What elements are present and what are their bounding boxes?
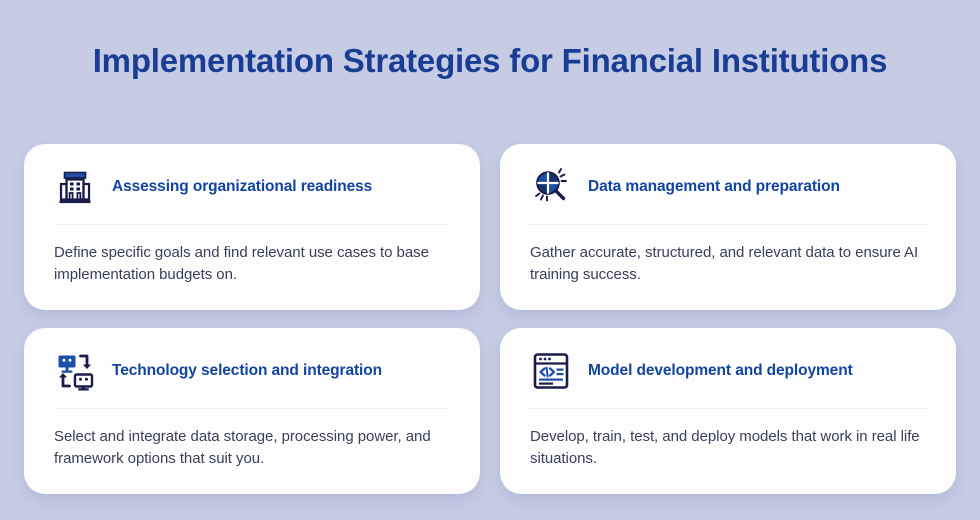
card-body-text: Gather accurate, structured, and relevan… — [530, 242, 926, 286]
code-window-icon — [530, 350, 572, 392]
card-header: Data management and preparation — [530, 166, 926, 225]
magnifier-data-icon — [530, 166, 572, 208]
bank-building-icon — [54, 166, 96, 208]
monitor-exchange-icon — [54, 350, 96, 392]
strategy-card: Assessing organizational readiness Defin… — [24, 144, 480, 310]
strategy-card-grid: Assessing organizational readiness Defin… — [24, 144, 956, 494]
card-heading: Model development and deployment — [588, 361, 853, 381]
strategy-card: Data management and preparation Gather a… — [500, 144, 956, 310]
strategy-card: Technology selection and integration Sel… — [24, 328, 480, 494]
card-body-text: Develop, train, test, and deploy models … — [530, 426, 926, 470]
card-body-text: Define specific goals and find relevant … — [54, 242, 450, 286]
card-heading: Assessing organizational readiness — [112, 177, 372, 197]
card-header: Technology selection and integration — [54, 350, 450, 409]
card-body-text: Select and integrate data storage, proce… — [54, 426, 450, 470]
infographic-page: Implementation Strategies for Financial … — [0, 0, 980, 520]
card-heading: Technology selection and integration — [112, 361, 382, 381]
page-title: Implementation Strategies for Financial … — [90, 38, 890, 83]
card-header: Assessing organizational readiness — [54, 166, 450, 225]
card-header: Model development and deployment — [530, 350, 926, 409]
strategy-card: Model development and deployment Develop… — [500, 328, 956, 494]
card-heading: Data management and preparation — [588, 177, 840, 197]
